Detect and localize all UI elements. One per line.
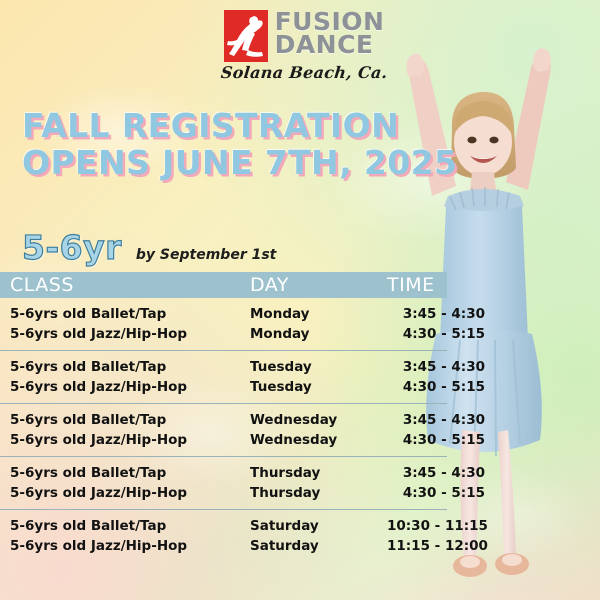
- cell-day: Saturday: [250, 538, 387, 554]
- cell-time: 3:45 - 4:30: [387, 412, 497, 428]
- cell-class: 5-6yrs old Jazz/Hip-Hop: [10, 432, 250, 448]
- cell-class: 5-6yrs old Ballet/Tap: [10, 359, 250, 375]
- cell-time: 4:30 - 5:15: [387, 432, 497, 448]
- brand-logo: FUSION DANCE Solana Beach, Ca.: [214, 10, 394, 88]
- headline: FALL REGISTRATION OPENS JUNE 7TH, 2025: [22, 108, 442, 182]
- cell-class: 5-6yrs old Ballet/Tap: [10, 518, 250, 534]
- column-header-day: DAY: [250, 274, 387, 296]
- table-row: 5-6yrs old Ballet/TapTuesday3:45 - 4:30: [0, 357, 447, 377]
- poster-canvas: FUSION DANCE Solana Beach, Ca. FALL REGI…: [0, 0, 600, 600]
- cell-day: Thursday: [250, 485, 387, 501]
- column-header-time: TIME: [387, 274, 447, 296]
- logo-top-row: FUSION DANCE: [224, 10, 385, 62]
- table-body: 5-6yrs old Ballet/TapMonday3:45 - 4:305-…: [0, 298, 447, 556]
- table-header-row: CLASS DAY TIME: [0, 272, 447, 298]
- headline-line-2: OPENS JUNE 7TH, 2025: [22, 145, 442, 182]
- schedule-group: 5-6yrs old Ballet/TapMonday3:45 - 4:305-…: [0, 298, 447, 344]
- table-row: 5-6yrs old Jazz/Hip-HopSaturday11:15 - 1…: [0, 536, 447, 556]
- cell-time: 10:30 - 11:15: [387, 518, 497, 534]
- schedule-group: 5-6yrs old Ballet/TapThursday3:45 - 4:30…: [0, 456, 447, 503]
- cell-day: Tuesday: [250, 379, 387, 395]
- dancer-silhouette-icon: [224, 10, 268, 62]
- table-row: 5-6yrs old Jazz/Hip-HopWednesday4:30 - 5…: [0, 430, 447, 450]
- cell-day: Monday: [250, 306, 387, 322]
- cell-day: Tuesday: [250, 359, 387, 375]
- headline-line-1: FALL REGISTRATION: [22, 108, 442, 145]
- cell-time: 3:45 - 4:30: [387, 359, 497, 375]
- cell-class: 5-6yrs old Ballet/Tap: [10, 412, 250, 428]
- cell-day: Thursday: [250, 465, 387, 481]
- cell-time: 11:15 - 12:00: [387, 538, 497, 554]
- cell-time: 3:45 - 4:30: [387, 306, 497, 322]
- cell-day: Wednesday: [250, 412, 387, 428]
- cell-class: 5-6yrs old Jazz/Hip-Hop: [10, 379, 250, 395]
- cell-class: 5-6yrs old Jazz/Hip-Hop: [10, 538, 250, 554]
- cell-time: 4:30 - 5:15: [387, 485, 497, 501]
- cell-day: Saturday: [250, 518, 387, 534]
- schedule-table: CLASS DAY TIME 5-6yrs old Ballet/TapMond…: [0, 272, 447, 556]
- cell-class: 5-6yrs old Ballet/Tap: [10, 465, 250, 481]
- logo-wordmark: FUSION DANCE: [275, 10, 385, 56]
- cell-time: 4:30 - 5:15: [387, 326, 497, 342]
- logo-line-2: DANCE: [275, 33, 385, 56]
- table-row: 5-6yrs old Ballet/TapThursday3:45 - 4:30: [0, 463, 447, 483]
- table-row: 5-6yrs old Jazz/Hip-HopTuesday4:30 - 5:1…: [0, 377, 447, 397]
- age-group-note: by September 1st: [136, 247, 276, 263]
- table-row: 5-6yrs old Jazz/Hip-HopMonday4:30 - 5:15: [0, 324, 447, 344]
- column-header-class: CLASS: [10, 274, 250, 296]
- cell-time: 3:45 - 4:30: [387, 465, 497, 481]
- cell-class: 5-6yrs old Jazz/Hip-Hop: [10, 485, 250, 501]
- schedule-group: 5-6yrs old Ballet/TapSaturday10:30 - 11:…: [0, 509, 447, 556]
- table-row: 5-6yrs old Jazz/Hip-HopThursday4:30 - 5:…: [0, 483, 447, 503]
- cell-class: 5-6yrs old Jazz/Hip-Hop: [10, 326, 250, 342]
- cell-class: 5-6yrs old Ballet/Tap: [10, 306, 250, 322]
- cell-day: Wednesday: [250, 432, 387, 448]
- table-row: 5-6yrs old Ballet/TapMonday3:45 - 4:30: [0, 304, 447, 324]
- cell-time: 4:30 - 5:15: [387, 379, 497, 395]
- schedule-group: 5-6yrs old Ballet/TapTuesday3:45 - 4:305…: [0, 350, 447, 397]
- schedule-group: 5-6yrs old Ballet/TapWednesday3:45 - 4:3…: [0, 403, 447, 450]
- age-group-heading: 5-6yr by September 1st: [22, 228, 276, 267]
- table-row: 5-6yrs old Ballet/TapSaturday10:30 - 11:…: [0, 516, 447, 536]
- age-group-label: 5-6yr: [22, 228, 122, 267]
- table-row: 5-6yrs old Ballet/TapWednesday3:45 - 4:3…: [0, 410, 447, 430]
- logo-tagline: Solana Beach, Ca.: [220, 63, 389, 82]
- cell-day: Monday: [250, 326, 387, 342]
